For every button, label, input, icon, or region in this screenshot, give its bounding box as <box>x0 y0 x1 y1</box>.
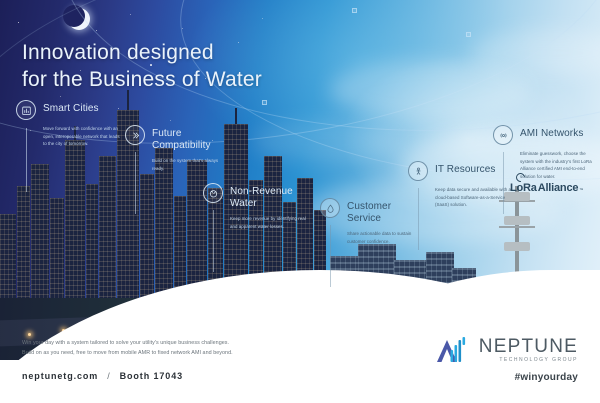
trademark-symbol: ™ <box>579 187 583 192</box>
brand-name: NEPTUNE <box>479 337 578 356</box>
neptune-logo: NEPTUNE TECHNOLOGY GROUP <box>434 336 578 364</box>
brand-tagline: TECHNOLOGY GROUP <box>479 358 578 363</box>
callout-title: AMI Networks <box>520 125 583 140</box>
page-title: Innovation designed for the Business of … <box>22 40 352 94</box>
callout-body: Keep data secure and available with a cl… <box>408 186 514 209</box>
callout-title: Future Compatibility <box>152 125 229 152</box>
bar-chart-building-icon <box>16 100 36 120</box>
callout-body: Eliminate guesswork, choose the system w… <box>493 150 597 180</box>
callout-body: Build on the system that's always ready. <box>125 157 229 172</box>
lora-wordmark-part1: LoRa <box>510 182 537 194</box>
callout-smart-cities: Smart Cities Move forward with confidenc… <box>16 100 120 148</box>
neptune-wordmark: NEPTUNE TECHNOLOGY GROUP <box>479 337 578 363</box>
website-link[interactable]: neptunetg.com <box>22 371 98 381</box>
footer-description: Win your day with a system tailored to s… <box>22 338 322 358</box>
headline-line-1: Innovation designed <box>22 40 352 67</box>
neptune-logo-mark-icon <box>434 336 472 364</box>
headline-line-2: for the Business of Water <box>22 67 352 94</box>
callout-title: Non-Revenue Water <box>230 183 311 210</box>
lora-wordmark-part2: Alliance <box>538 182 579 194</box>
callout-title: Smart Cities <box>43 100 99 115</box>
callout-body: Keep more revenue by identifying real an… <box>203 215 311 230</box>
callout-ami-networks: AMI Networks Eliminate guesswork, choose… <box>493 125 597 180</box>
campaign-hashtag: #winyourday <box>515 372 578 383</box>
callout-body: Share actionable data to sustain custome… <box>320 230 424 245</box>
callout-non-revenue-water: Non-Revenue Water Keep more revenue by i… <box>203 183 311 231</box>
water-meter-icon <box>203 183 223 203</box>
callout-future-compatibility: Future Compatibility Build on the system… <box>125 125 229 173</box>
booth-number: Booth 17043 <box>120 371 183 381</box>
chevrons-right-icon <box>125 125 145 145</box>
footer-links: neptunetg.com / Booth 17043 <box>22 371 183 381</box>
callout-title: IT Resources <box>435 161 495 176</box>
footer-copy-line-2: Build on as you need, free to move from … <box>22 348 322 358</box>
lora-alliance-logo: LoRa Alliance ™ <box>510 182 583 194</box>
person-network-icon <box>408 161 428 181</box>
link-separator: / <box>107 371 110 381</box>
network-signal-icon <box>493 125 513 145</box>
marketing-poster: Innovation designed for the Business of … <box>0 0 600 403</box>
callout-body: Move forward with confidence with an ope… <box>16 125 120 148</box>
water-drop-icon <box>320 198 340 218</box>
footer-copy-line-1: Win your day with a system tailored to s… <box>22 338 322 348</box>
